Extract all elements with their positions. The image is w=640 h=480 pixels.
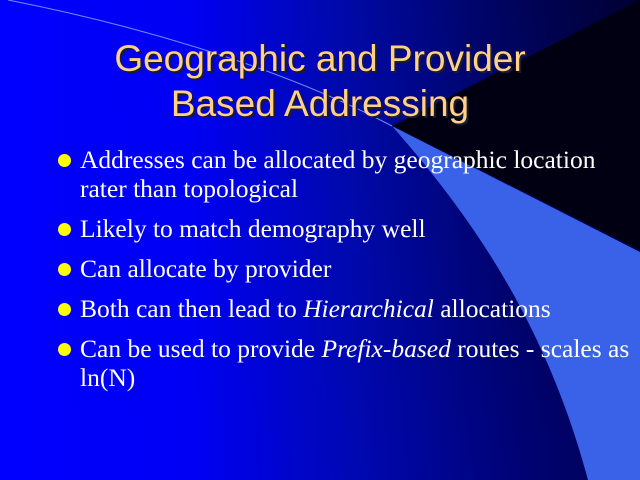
title-line-2: Based Addressing	[0, 81, 640, 126]
bullet-text: Likely to match demography well	[80, 214, 630, 243]
bullet-plain-text: Addresses can be allocated by geographic…	[80, 145, 595, 203]
bullet-item: Addresses can be allocated by geographic…	[50, 145, 630, 203]
bullet-plain-text: Can allocate by provider	[80, 254, 331, 283]
bullet-disc-icon	[58, 263, 71, 276]
bullet-text: Both can then lead to Hierarchical alloc…	[80, 294, 630, 323]
bullet-emphasis-text: Hierarchical	[303, 294, 434, 323]
bullet-plain-text: allocations	[434, 294, 551, 323]
bullet-text: Can allocate by provider	[80, 254, 630, 283]
bullet-plain-text: Both can then lead to	[80, 294, 303, 323]
presentation-slide: Geographic and Provider Based Addressing…	[0, 0, 640, 480]
bullet-disc-icon	[58, 154, 71, 167]
bullet-disc-icon	[58, 343, 71, 356]
bullet-emphasis-text: Prefix-based	[322, 334, 451, 363]
bullet-plain-text: Can be used to provide	[80, 334, 322, 363]
bullet-text: Can be used to provide Prefix-based rout…	[80, 334, 630, 392]
bullet-item: Likely to match demography well	[50, 214, 630, 243]
title-line-1: Geographic and Provider	[0, 36, 640, 81]
bullet-item: Both can then lead to Hierarchical alloc…	[50, 294, 630, 323]
bullet-list: Addresses can be allocated by geographic…	[50, 145, 630, 403]
bullet-plain-text: Likely to match demography well	[80, 214, 426, 243]
bullet-text: Addresses can be allocated by geographic…	[80, 145, 630, 203]
bullet-disc-icon	[58, 223, 71, 236]
bullet-item: Can allocate by provider	[50, 254, 630, 283]
bullet-disc-icon	[58, 303, 71, 316]
slide-title: Geographic and Provider Based Addressing	[0, 36, 640, 126]
bullet-item: Can be used to provide Prefix-based rout…	[50, 334, 630, 392]
